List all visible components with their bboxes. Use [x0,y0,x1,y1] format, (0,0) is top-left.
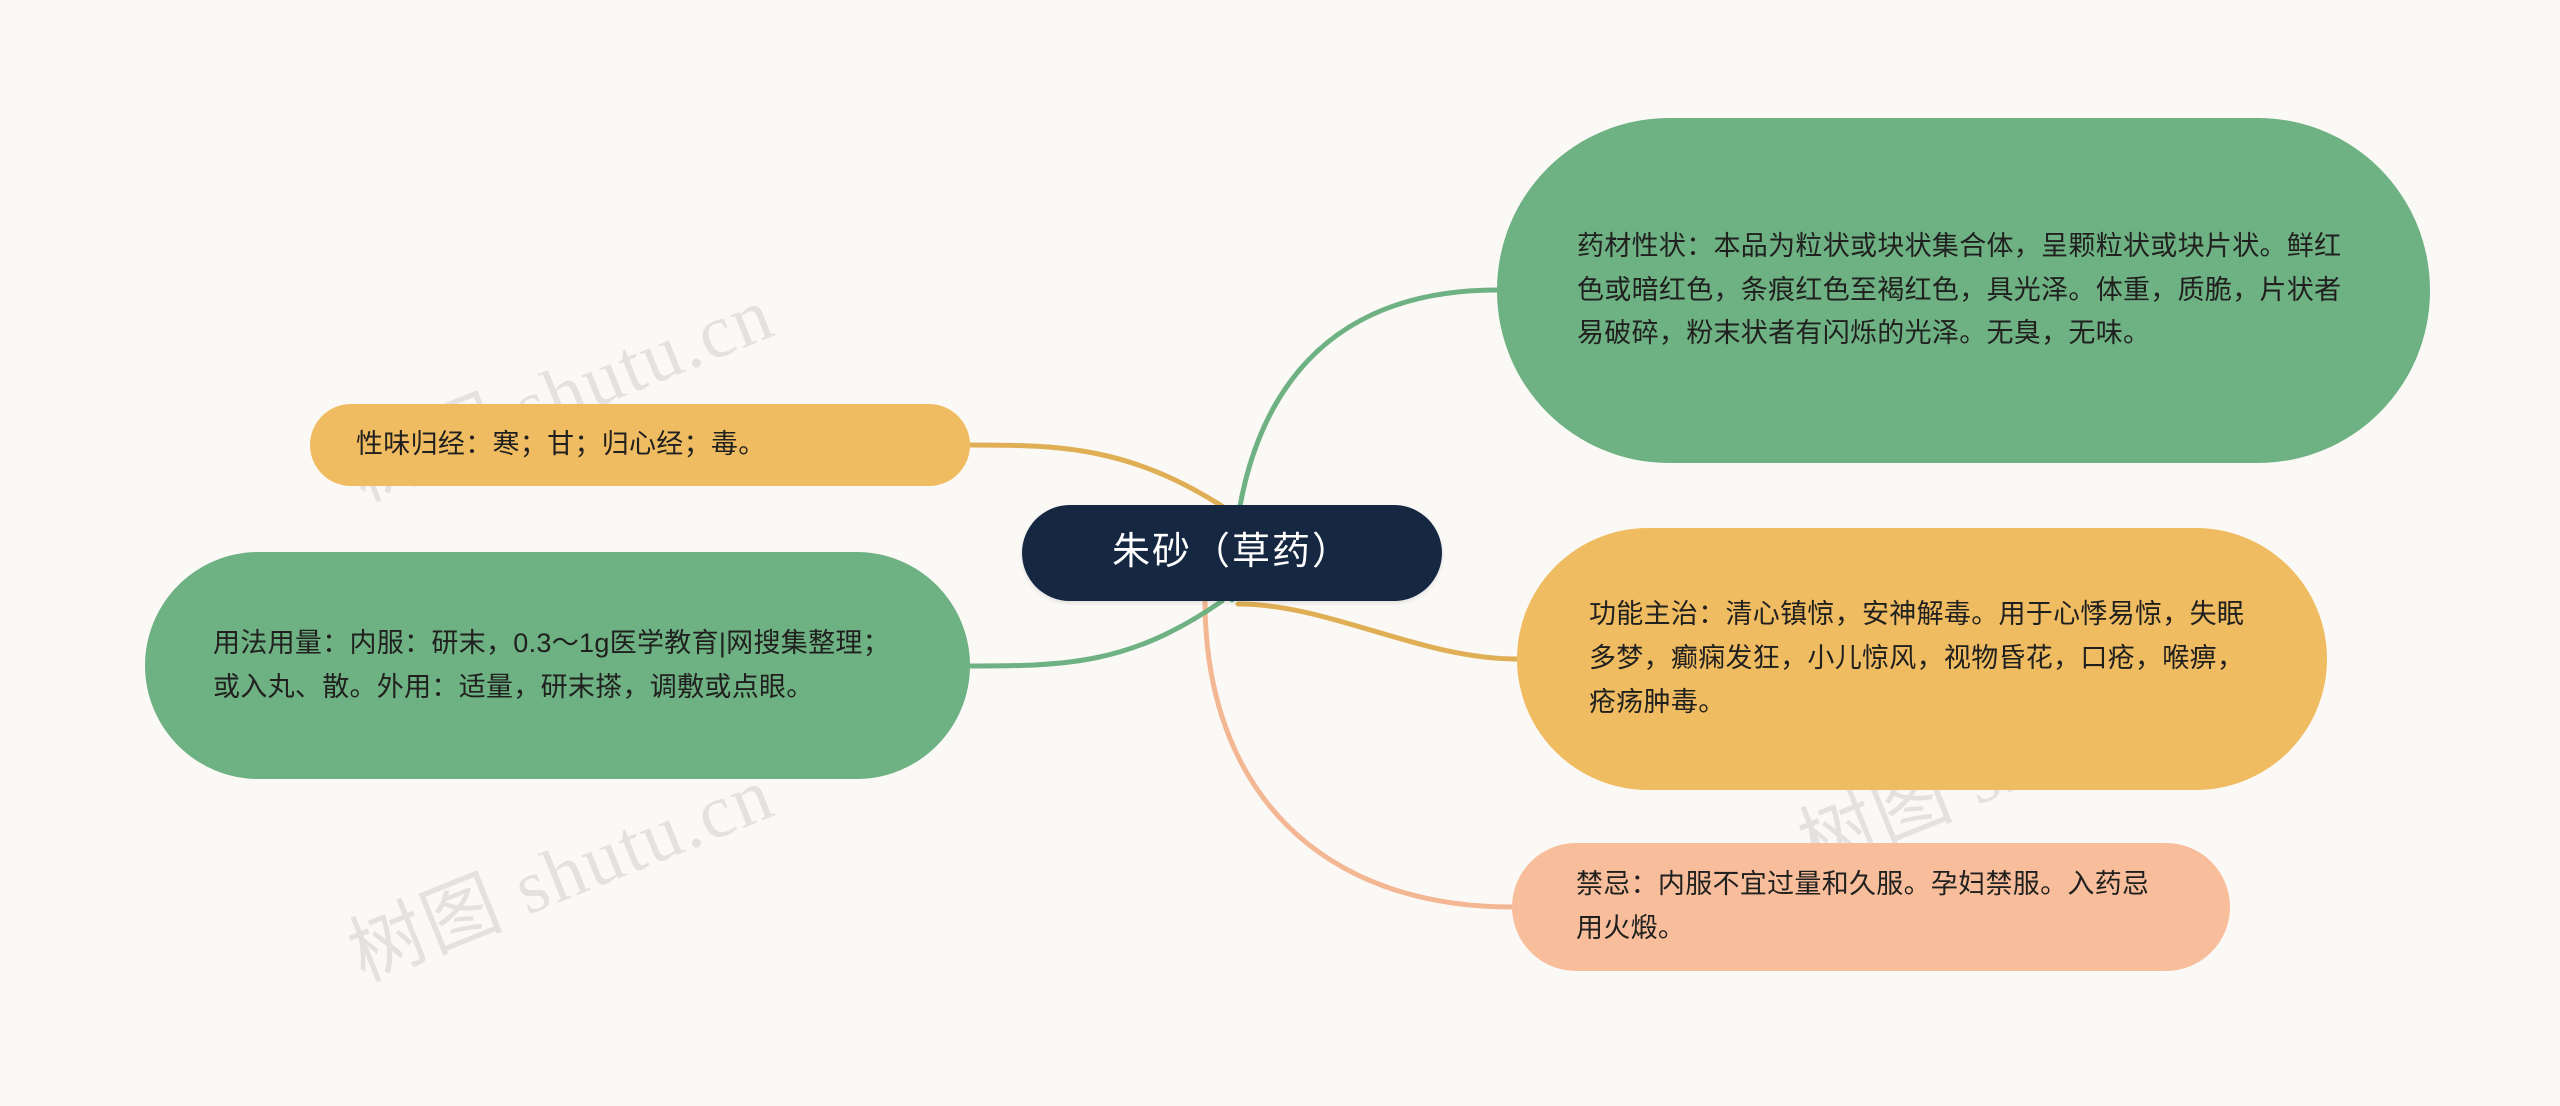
edge-to-functions [1238,604,1517,659]
edge-to-dosage [970,601,1222,666]
edge-to-nature [970,445,1228,510]
branch-node-contraindications-label: 禁忌：内服不宜过量和久服。孕妇禁服。入药忌用火煅。 [1576,863,2174,950]
branch-node-nature[interactable]: 性味归经：寒；甘；归心经；毒。 [310,404,970,486]
branch-node-functions[interactable]: 功能主治：清心镇惊，安神解毒。用于心悸易惊，失眠多梦，癫痫发狂，小儿惊风，视物昏… [1517,528,2327,790]
branch-node-properties[interactable]: 药材性状：本品为粒状或块状集合体，呈颗粒状或块片状。鲜红色或暗红色，条痕红色至褐… [1497,118,2430,463]
mindmap-canvas: 树图 shutu.cn 树图 shutu.cn 树图 shutu.cn 树图 s… [0,0,2560,1106]
branch-node-nature-label: 性味归经：寒；甘；归心经；毒。 [356,423,766,467]
branch-node-dosage[interactable]: 用法用量：内服：研末，0.3～1g医学教育|网搜集整理；或入丸、散。外用：适量，… [145,552,970,779]
branch-node-contraindications[interactable]: 禁忌：内服不宜过量和久服。孕妇禁服。入药忌用火煅。 [1512,843,2230,971]
branch-node-functions-label: 功能主治：清心镇惊，安神解毒。用于心悸易惊，失眠多梦，癫痫发狂，小儿惊风，视物昏… [1589,593,2263,724]
edge-to-contraindications [1205,600,1512,907]
branch-node-dosage-label: 用法用量：内服：研末，0.3～1g医学教育|网搜集整理；或入丸、散。外用：适量，… [213,622,910,709]
root-node-zhusha[interactable]: 朱砂（草药） [1022,505,1442,601]
branch-node-properties-label: 药材性状：本品为粒状或块状集合体，呈颗粒状或块片状。鲜红色或暗红色，条痕红色至褐… [1577,225,2358,356]
root-node-label: 朱砂（草药） [1112,522,1352,584]
